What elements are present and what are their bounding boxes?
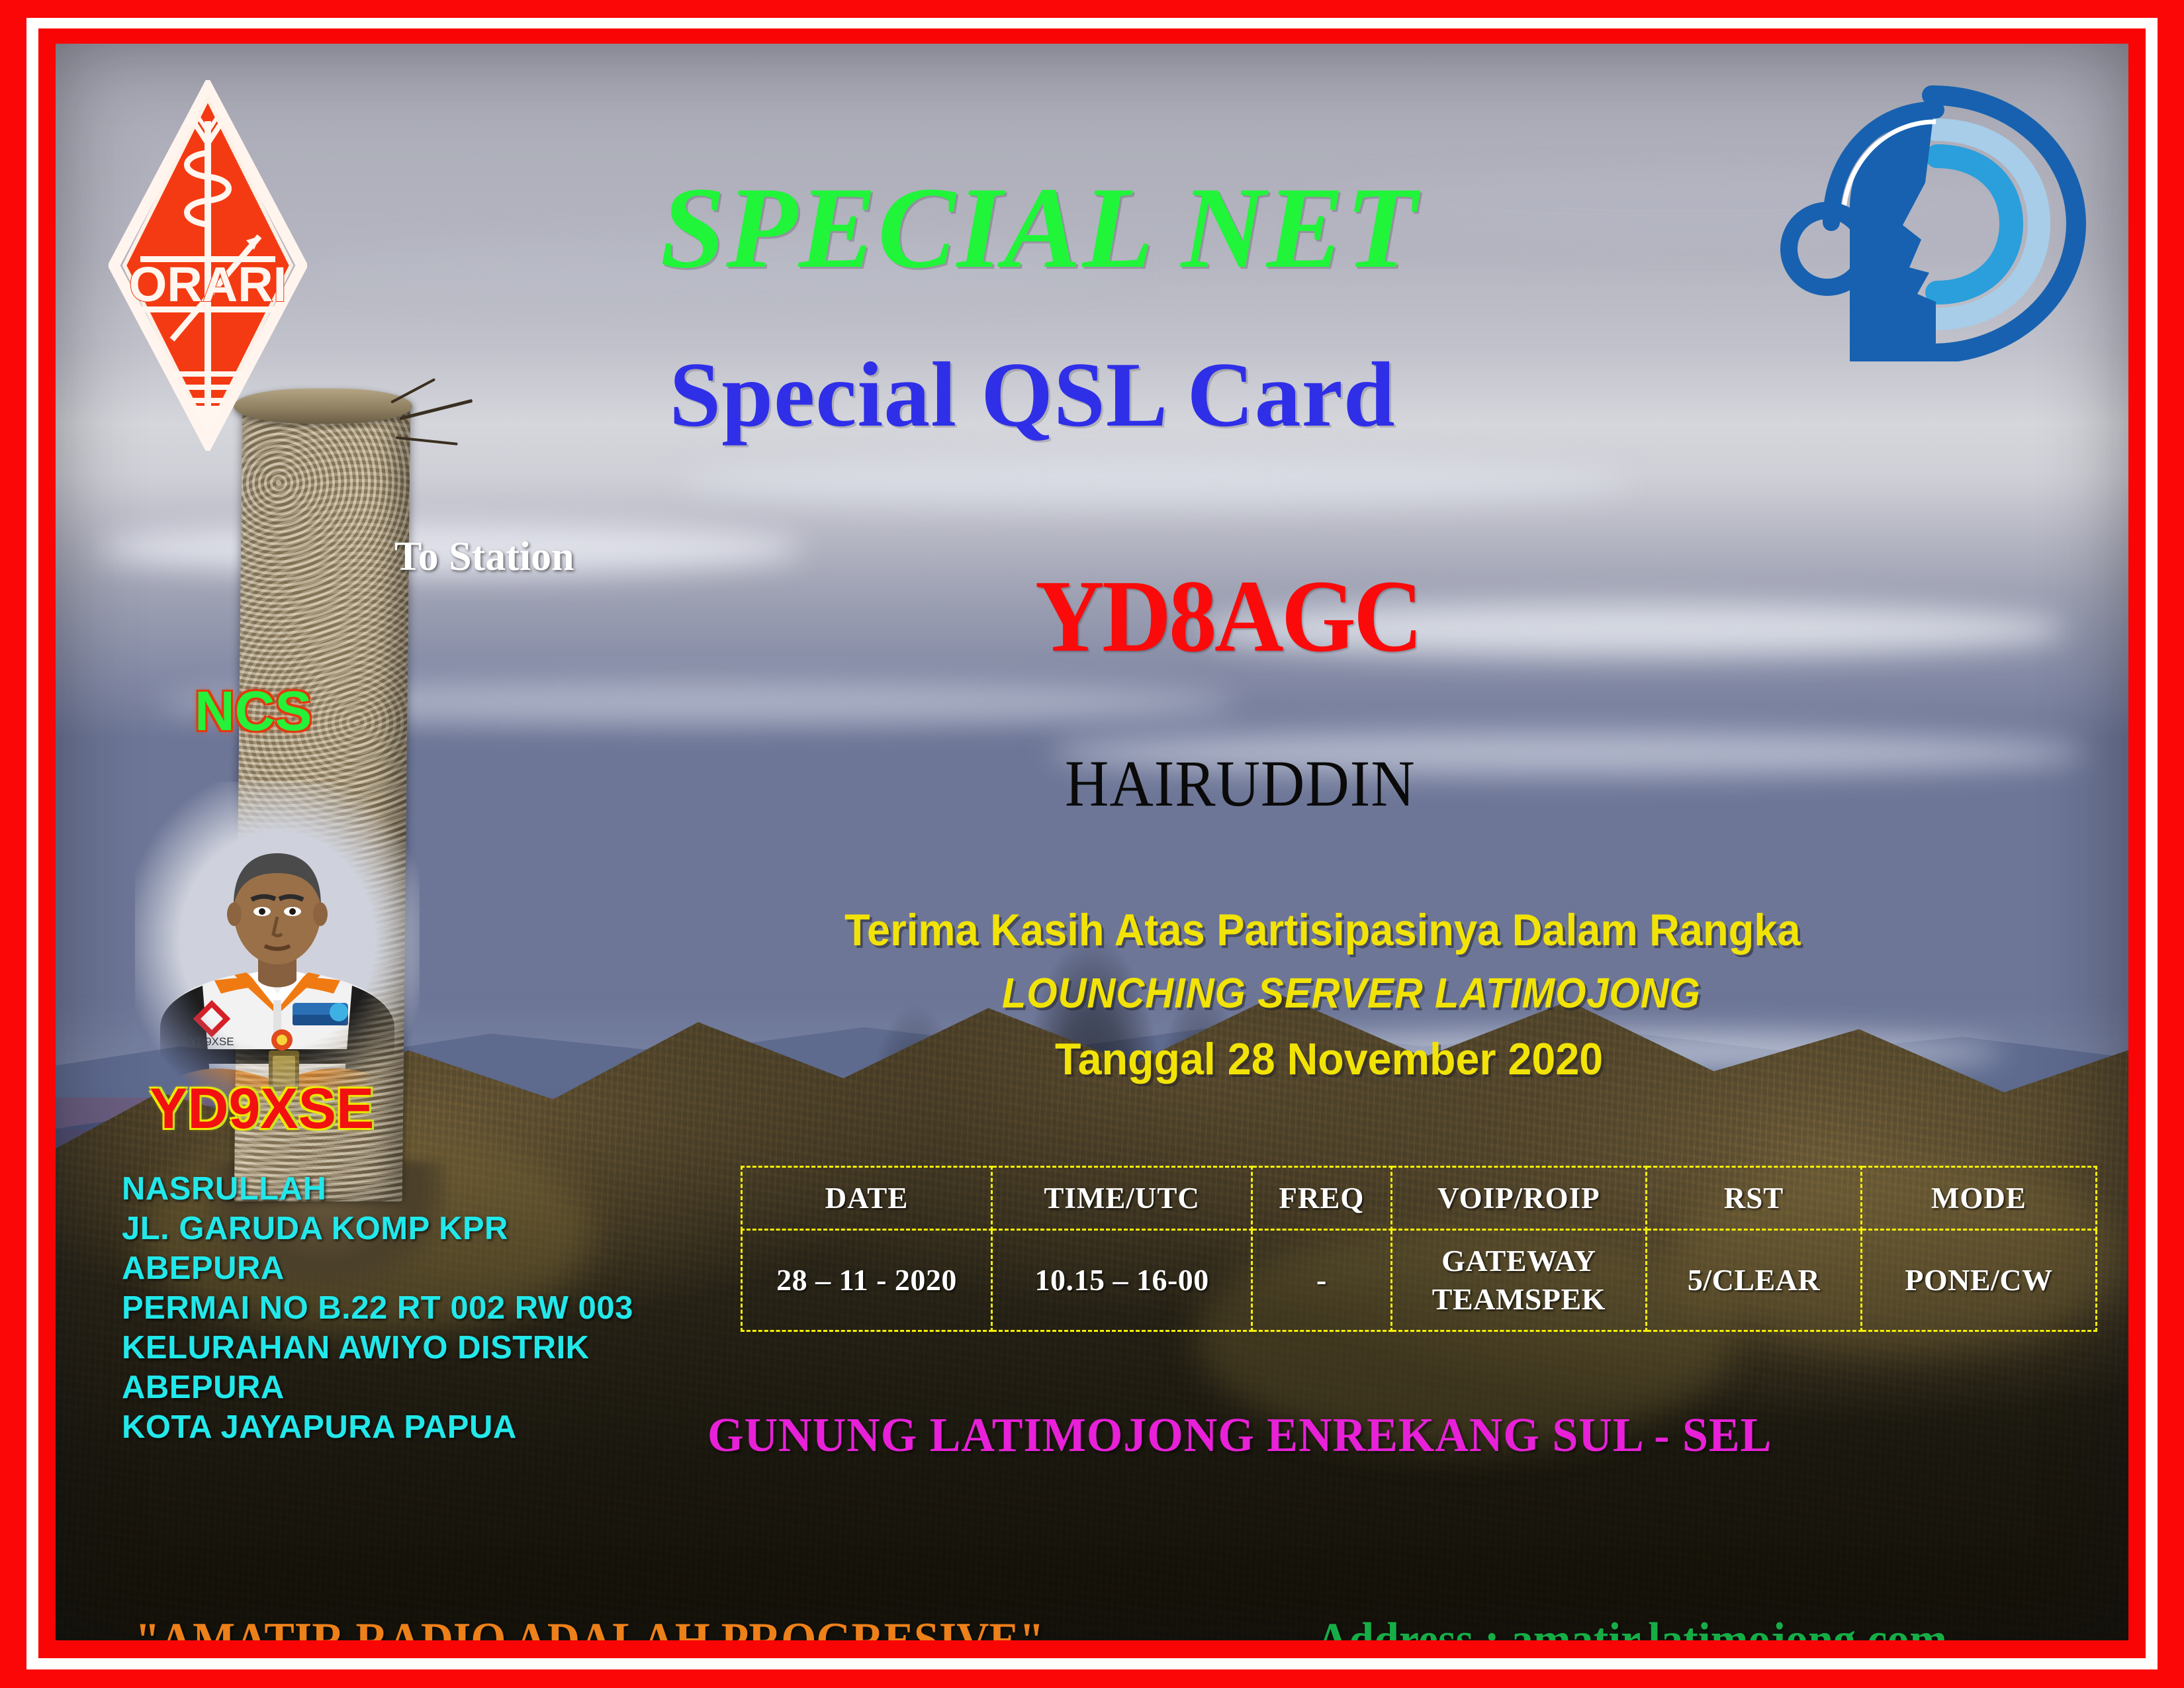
card-background-photo: ORARI <box>56 44 2128 1640</box>
address-line: NASRULLAH <box>122 1169 633 1209</box>
footer-web-address: Address : amatir.latimojong.com <box>1316 1613 1947 1640</box>
qsl-card: ORARI <box>0 0 2184 1688</box>
table-row: 28 – 11 - 2020 10.15 – 16-00 - GATEWAY T… <box>742 1230 2097 1331</box>
table-header-row: DATE TIME/UTC FREQ VOIP/ROIP RST MODE <box>742 1167 2097 1230</box>
address-line: KELURAHAN AWIYO DISTRIK <box>122 1328 633 1368</box>
station-callsign: YD8AGC <box>1035 557 1420 676</box>
footer-slogan: "AMATIR RADIO ADALAH PROGRESIVE" <box>135 1613 1044 1640</box>
address-line: JL. GARUDA KOMP KPR <box>122 1209 633 1248</box>
svg-text:ORARI: ORARI <box>129 257 287 312</box>
operator-name: HAIRUDDIN <box>1065 745 1416 821</box>
cell-voip-roip-line2: TEAMSPEK <box>1392 1280 1646 1319</box>
ncs-address-block: NASRULLAH JL. GARUDA KOMP KPR ABEPURA PE… <box>122 1169 633 1447</box>
column-header-date: DATE <box>742 1167 992 1230</box>
ncs-callsign: YD9XSE <box>150 1076 374 1142</box>
column-header-mode: MODE <box>1861 1167 2096 1230</box>
thanks-line-3: Tanggal 28 November 2020 <box>1055 1033 1603 1085</box>
address-line: KOTA JAYAPURA PAPUA <box>122 1407 633 1447</box>
cell-date: 28 – 11 - 2020 <box>742 1230 992 1331</box>
cell-freq: - <box>1252 1230 1391 1331</box>
cloud-streak <box>678 459 1631 506</box>
page-subtitle: Special QSL Card <box>669 342 1395 448</box>
orari-diamond-logo: ORARI <box>109 80 307 451</box>
address-line: ABEPURA <box>122 1368 633 1407</box>
cell-voip-roip: GATEWAY TEAMSPEK <box>1391 1230 1647 1331</box>
cell-time: 10.15 – 16-00 <box>992 1230 1252 1331</box>
column-header-voip-roip: VOIP/ROIP <box>1391 1167 1647 1230</box>
ncs-label: NCS <box>195 679 312 743</box>
thanks-line-1: Terima Kasih Atas Partisipasinya Dalam R… <box>844 904 1801 956</box>
qso-details-table: DATE TIME/UTC FREQ VOIP/ROIP RST MODE 28… <box>741 1166 2097 1332</box>
thanks-line-2: LOUNCHING SERVER LATIMOJONG <box>1002 968 1701 1017</box>
address-line: PERMAI NO B.22 RT 002 RW 003 <box>122 1288 633 1328</box>
column-header-freq: FREQ <box>1252 1167 1391 1230</box>
page-title: SPECIAL NET <box>660 162 1418 295</box>
cell-voip-roip-line1: GATEWAY <box>1392 1242 1646 1280</box>
to-station-label: To Station <box>394 534 574 581</box>
ncs-operator-portrait: YD9XSE <box>135 782 420 1100</box>
headset-profile-logo <box>1780 83 2091 361</box>
column-header-time: TIME/UTC <box>992 1167 1252 1230</box>
location-name: GUNUNG LATIMOJONG ENREKANG SUL - SEL <box>707 1407 1772 1463</box>
cell-rst: 5/CLEAR <box>1647 1230 1862 1331</box>
cell-mode: PONE/CW <box>1861 1230 2096 1331</box>
svg-text:YD9XSE: YD9XSE <box>189 1035 234 1048</box>
column-header-rst: RST <box>1647 1167 1862 1230</box>
address-line: ABEPURA <box>122 1248 633 1288</box>
